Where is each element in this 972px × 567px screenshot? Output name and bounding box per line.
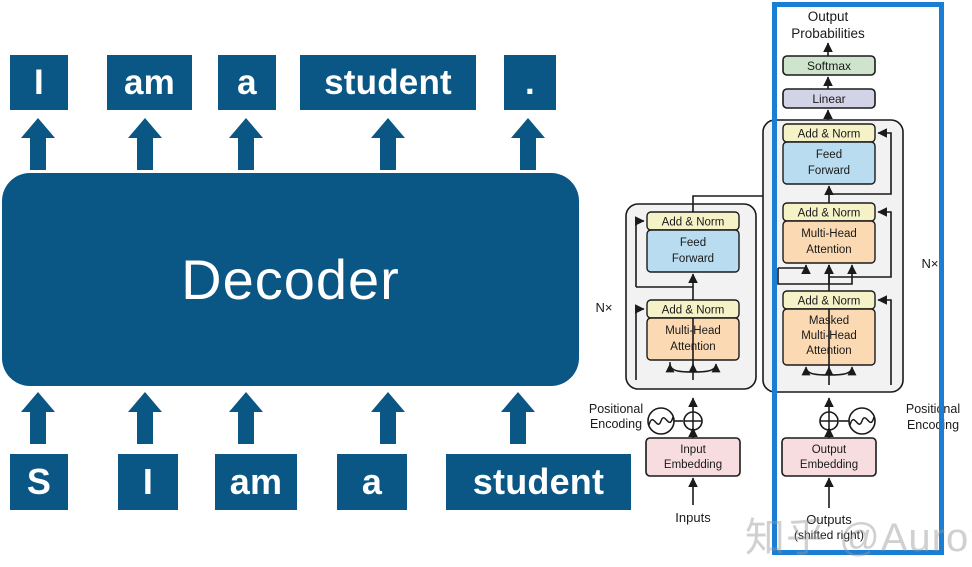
encoder-positional-encoding-icon xyxy=(648,408,674,434)
decoder-stack: Add & Norm Feed Forward Add & Norm Multi… xyxy=(763,120,903,392)
transformer-architecture-figure: Add & Norm Feed Forward Add & Norm Multi… xyxy=(578,0,972,567)
up-arrow-icon xyxy=(229,118,263,170)
up-arrow-icon xyxy=(21,118,55,170)
decoder-cross-attention-label-2: Attention xyxy=(806,244,851,256)
up-arrow-icon xyxy=(511,118,545,170)
input-embedding-label-2: Embedding xyxy=(664,459,722,471)
inputs-label: Inputs xyxy=(675,510,711,525)
output-probabilities-label-2: Probabilities xyxy=(791,26,865,41)
encoder-add-norm-lower-label: Add & Norm xyxy=(662,305,725,317)
slide-canvas: I am a student . Decoder xyxy=(0,0,972,567)
encoder-feed-forward-label-2: Forward xyxy=(672,253,714,265)
encoder-stack: Add & Norm Feed Forward Add & Norm Multi… xyxy=(626,196,778,389)
decoder-add-norm-mid-label: Add & Norm xyxy=(798,208,861,220)
decoder-positional-encoding-label-1: Positional xyxy=(906,402,960,416)
decoder-nx-label: N× xyxy=(922,256,939,271)
output-embedding-label-1: Output xyxy=(812,444,847,456)
decoder-add-norm-bottom-label: Add & Norm xyxy=(798,296,861,308)
up-arrow-icon xyxy=(371,392,405,444)
input-token-box: am xyxy=(215,454,297,510)
decoder-feed-forward-label-1: Feed xyxy=(816,149,842,161)
input-token-box: S xyxy=(10,454,68,510)
input-embedding-label-1: Input xyxy=(680,444,706,456)
up-arrow-icon xyxy=(371,118,405,170)
output-token-box: a xyxy=(218,55,276,110)
output-token-box: student xyxy=(300,55,476,110)
decoder-positional-encoding-label-2: Encoding xyxy=(907,418,959,432)
output-token-box: . xyxy=(504,55,556,110)
decoder-add-norm-top-label: Add & Norm xyxy=(798,129,861,141)
input-token-box: I xyxy=(118,454,178,510)
encoder-add-norm-upper-label: Add & Norm xyxy=(662,217,725,229)
outputs-label-2: (shifted right) xyxy=(794,528,864,542)
linear-label: Linear xyxy=(812,92,845,106)
softmax-label: Softmax xyxy=(807,59,851,73)
input-token-box: a xyxy=(337,454,407,510)
decoder-block: Decoder xyxy=(2,173,579,386)
output-probabilities-label-1: Output xyxy=(808,9,849,24)
output-token-box: I xyxy=(10,55,68,110)
encoder-nx-label: N× xyxy=(596,300,613,315)
decoder-sum-icon xyxy=(820,412,838,430)
output-embedding-label-2: Embedding xyxy=(800,459,858,471)
decoder-cross-attention-label-1: Multi-Head xyxy=(801,228,857,240)
up-arrow-icon xyxy=(21,392,55,444)
up-arrow-icon xyxy=(128,392,162,444)
encoder-feed-forward-label-1: Feed xyxy=(680,237,706,249)
decoder-feed-forward-label-2: Forward xyxy=(808,165,850,177)
encoder-sum-icon xyxy=(684,412,702,430)
up-arrow-icon xyxy=(229,392,263,444)
outputs-label-1: Outputs xyxy=(806,512,852,527)
encoder-positional-encoding-label-2: Encoding xyxy=(590,417,642,431)
decoder-positional-encoding-icon xyxy=(849,408,875,434)
up-arrow-icon xyxy=(128,118,162,170)
decoder-label: Decoder xyxy=(2,173,579,386)
encoder-positional-encoding-label-1: Positional xyxy=(589,402,643,416)
up-arrow-icon xyxy=(501,392,535,444)
output-token-box: am xyxy=(107,55,192,110)
